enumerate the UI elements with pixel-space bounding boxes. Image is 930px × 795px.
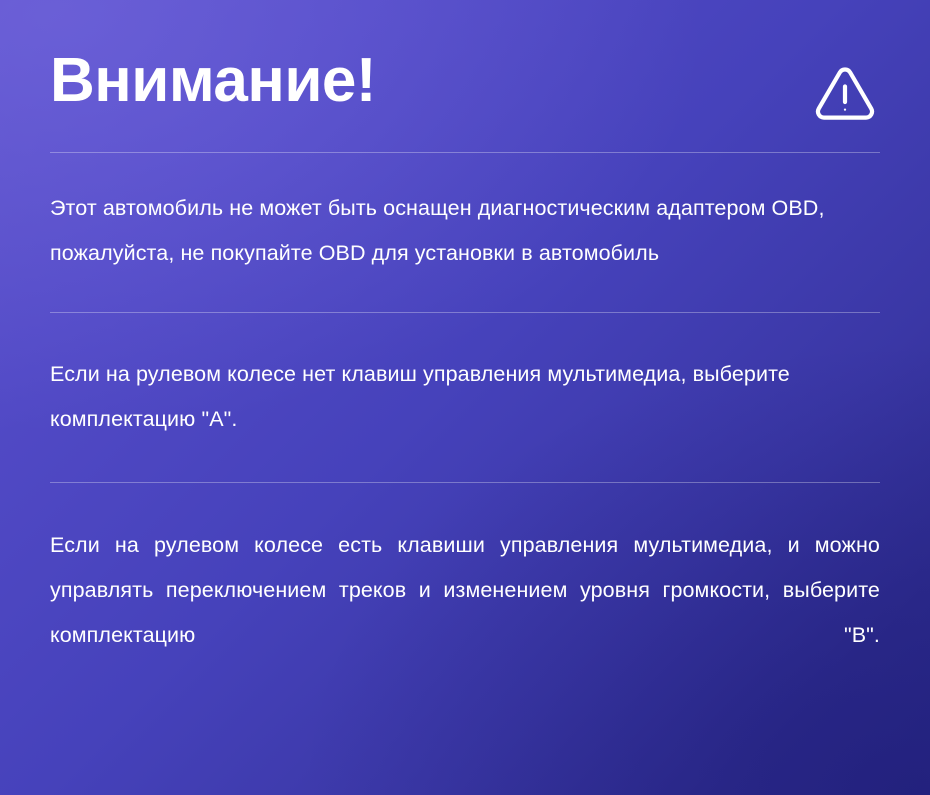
notice-text-variant-a: Если на рулевом колесе нет клавиш управл…	[50, 352, 880, 442]
warning-triangle-icon	[813, 62, 877, 122]
banner-header: Внимание!	[50, 0, 880, 152]
notice-block-obd: Этот автомобиль не может быть оснащен ди…	[50, 153, 880, 312]
notice-block-variant-b: Если на рулевом колесе есть клавиши упра…	[50, 483, 880, 743]
warning-banner: Внимание! Этот автомобиль не может быть …	[0, 0, 930, 795]
bottom-spacer	[50, 743, 880, 791]
page-title: Внимание!	[50, 50, 376, 112]
notice-block-variant-a: Если на рулевом колесе нет клавиш управл…	[50, 313, 880, 482]
notice-text-obd: Этот автомобиль не может быть оснащен ди…	[50, 186, 880, 276]
banner-content: Внимание! Этот автомобиль не может быть …	[0, 0, 930, 791]
notice-text-variant-b: Если на рулевом колесе есть клавиши упра…	[50, 523, 880, 703]
